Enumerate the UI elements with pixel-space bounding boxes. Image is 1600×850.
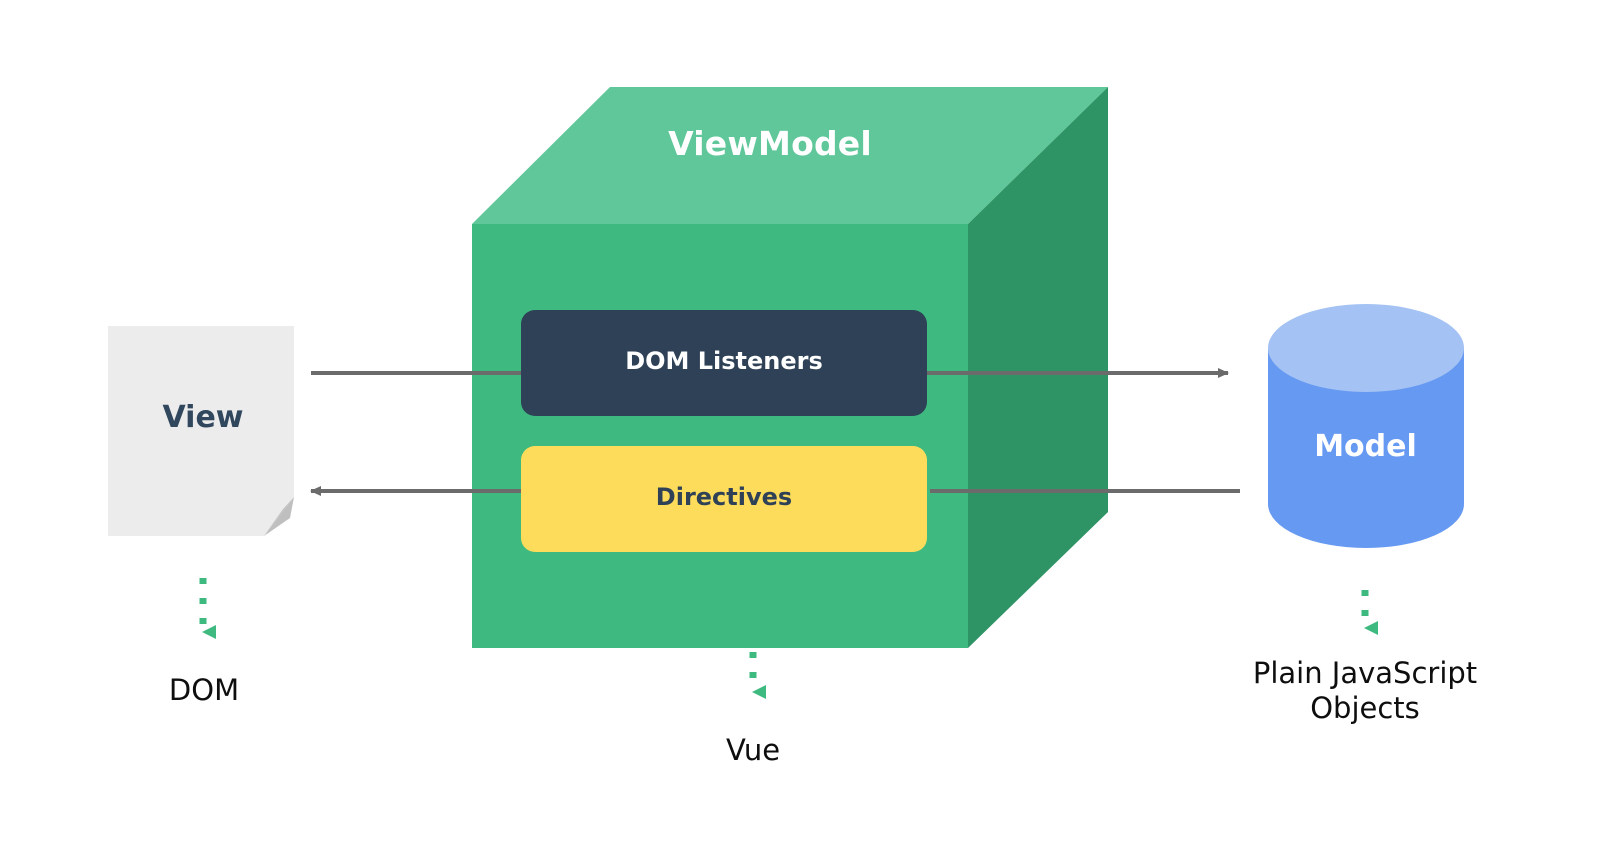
diagram-graphics — [0, 0, 1600, 850]
model-shape[interactable] — [1268, 304, 1464, 548]
model-cylinder-top — [1268, 304, 1464, 392]
dom-listeners-box[interactable] — [521, 310, 927, 416]
view-document-body — [108, 326, 294, 536]
view-shape[interactable] — [108, 326, 294, 536]
diagram-canvas: ViewModel View Model DOM Listeners Direc… — [0, 0, 1600, 850]
cube-front-face — [472, 224, 968, 648]
directives-box[interactable] — [521, 446, 927, 552]
